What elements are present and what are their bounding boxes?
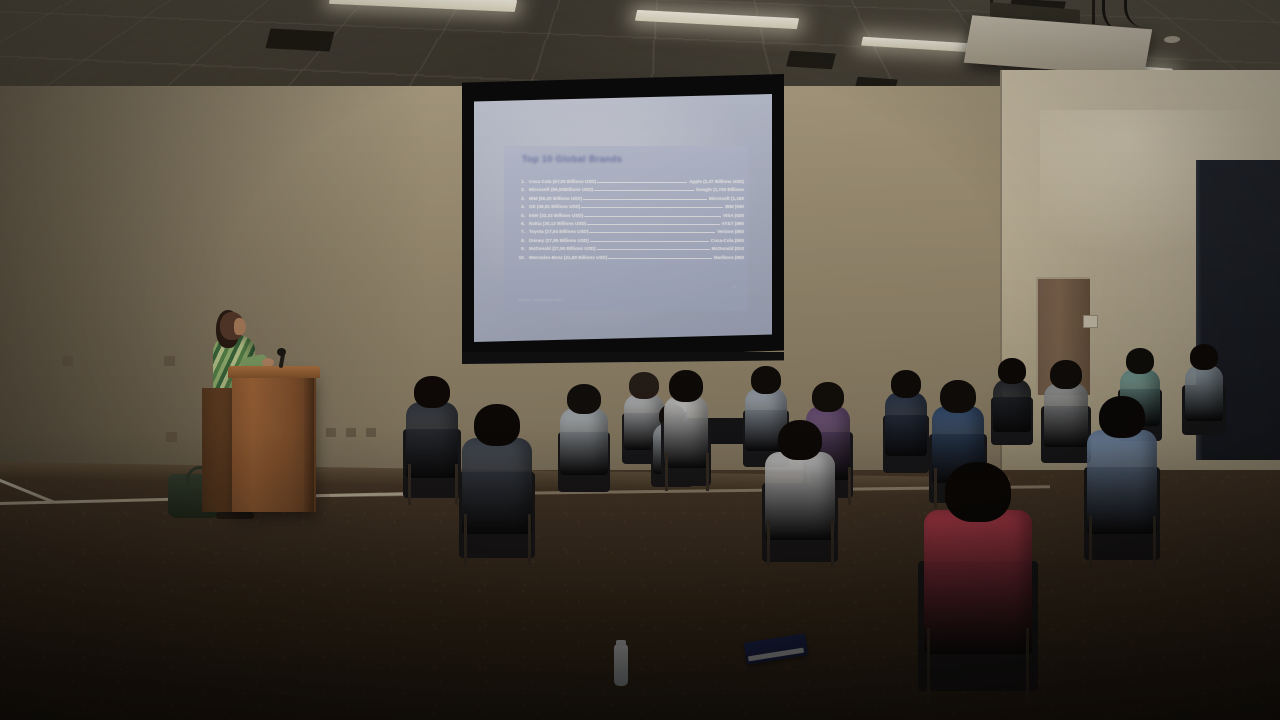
podium-top: [228, 366, 320, 378]
slide-row-left: Mercedes-Benz (21,80 Billions USD): [529, 254, 607, 262]
slide-row: 8. Disney (27,85 Billions USD) Coca-Cola…: [512, 237, 744, 245]
slide-row-connector: [597, 178, 687, 183]
audience-member-head: [1190, 344, 1218, 370]
slide-row-number: 3.: [512, 195, 529, 203]
presenter-face: [234, 318, 246, 335]
slide-row-connector: [594, 186, 694, 191]
slide-row-number: 5.: [512, 212, 529, 220]
audience-member-head: [1126, 348, 1154, 374]
slide-row-right: Coca-Cola (840: [710, 237, 744, 245]
chair-leg: [528, 514, 531, 564]
chair-leg: [408, 464, 411, 504]
slide-row-left: Intel (32,32 Billions USD): [529, 212, 583, 220]
chair-leg: [927, 628, 930, 704]
audience-member-torso: [462, 438, 531, 534]
audience-member-head: [567, 384, 601, 414]
audience-member-torso: [560, 408, 608, 475]
slide-row-left: McDonald (27,50 Billions USD): [529, 245, 596, 253]
wall-outlet-6: [366, 428, 376, 437]
audience-member-head: [474, 404, 520, 446]
microphone-icon: [277, 348, 286, 356]
slide-row-connector: [581, 203, 723, 208]
slide-row-right: McDonald (810: [711, 245, 744, 253]
projector-mount-rod-2: [1092, 0, 1095, 24]
slide-row-right: AT&T (890: [721, 220, 744, 228]
ceiling-vent-2: [786, 51, 836, 70]
audience-member-torso: [993, 379, 1030, 432]
ceiling-vent-1: [266, 28, 335, 51]
podium-side-panel: [202, 388, 236, 512]
slide-title: Top 10 Global Brands: [522, 154, 722, 168]
audience-member-head: [940, 380, 976, 413]
slide-row-connector: [584, 212, 721, 217]
audience-member-head: [778, 420, 822, 460]
slide-row-connector: [587, 220, 719, 225]
slide-row-left: Toyota (27,94 Billions USD): [529, 228, 588, 236]
water-bottle-cap: [616, 640, 626, 646]
slide-row: 7. Toyota (27,94 Billions USD) Verizon (…: [512, 228, 744, 236]
wall-outlet-4: [326, 428, 336, 437]
audience-member: [752, 420, 848, 530]
chair-leg: [665, 453, 668, 491]
slide-footer: Source: Interbrand 2013: [518, 298, 564, 302]
audience-member: [551, 384, 617, 468]
chair-leg: [831, 521, 834, 567]
audience-member-head: [1050, 360, 1082, 389]
slide-row-number: 6.: [512, 220, 529, 228]
slide-row: 1. Coca Cola (67,00 Billions USD) Apple …: [512, 178, 744, 186]
slide-row: 9. McDonald (27,50 Billions USD) McDonal…: [512, 245, 744, 253]
audience-member-head: [414, 376, 450, 408]
audience-member-torso: [885, 392, 927, 456]
slide-page-number: 12: [732, 285, 736, 289]
audience-member: [1074, 396, 1170, 526]
wall-outlet-2: [164, 356, 175, 366]
slide-row: 5. Intel (32,32 Billions USD) VISA (920: [512, 212, 744, 220]
slide-row-right: Marlboro (800: [713, 254, 744, 262]
wall-switch-plate[interactable]: [1083, 315, 1098, 328]
slide-row-number: 7.: [512, 228, 529, 236]
audience-member: [1177, 344, 1231, 414]
chair-leg: [767, 521, 770, 567]
chair-leg: [1026, 628, 1029, 704]
slide-row-right: Google (1,740 Billions: [695, 186, 744, 194]
chair-leg: [464, 514, 467, 564]
slide-row-connector: [590, 237, 709, 242]
slide-row-connector: [583, 195, 707, 200]
slide-row-connector: [608, 254, 712, 259]
audience-member-torso: [1185, 365, 1224, 421]
audience-member-head: [998, 358, 1026, 384]
audience-member-torso: [924, 510, 1032, 654]
audience-member-head: [945, 462, 1011, 522]
wall-corner-seam: [1000, 70, 1002, 520]
chair-leg: [1089, 516, 1092, 571]
water-bottle-on-floor: [614, 644, 628, 686]
slide-row-right: IBM (940: [724, 203, 744, 211]
audience-member: [449, 404, 545, 524]
slide-row-left: Nokia (30,13 Billions USD): [529, 220, 586, 228]
slide-row-right: Microsoft (1,160: [708, 195, 744, 203]
slide-row-number: 1.: [512, 178, 529, 186]
slide-row-left: Microsoft (56,93Billions USD): [529, 186, 593, 194]
slide-row-connector: [589, 228, 715, 233]
audience-member: [903, 462, 1053, 642]
slide-row-right: Verizon (860: [716, 228, 744, 236]
audience-member-head: [751, 366, 781, 394]
audience-member-torso: [664, 396, 709, 468]
slide-row-left: GE (48,91 Billions USD): [529, 203, 580, 211]
slide-row: 3. IBM (56,20 Billions USD) Microsoft (1…: [512, 195, 744, 203]
slide-row-number: 8.: [512, 237, 529, 245]
slide-row-left: Disney (27,85 Billions USD): [529, 237, 589, 245]
slide-row-right: VISA (920: [722, 212, 744, 220]
slide-row: 2. Microsoft (56,93Billions USD) Google …: [512, 186, 744, 194]
audience-member-head: [812, 382, 844, 412]
slide-row-left: Coca Cola (67,00 Billions USD): [529, 178, 596, 186]
projection-screen: Top 10 Global Brands 1. Coca Cola (67,00…: [474, 94, 772, 342]
slide-row: 6. Nokia (30,13 Billions USD) AT&T (890: [512, 220, 744, 228]
audience-member-head: [891, 370, 921, 398]
slide-row-number: 9.: [512, 245, 529, 253]
presenter-shoe-right: [232, 512, 254, 519]
audience-member: [986, 358, 1038, 424]
wall-outlet-5: [346, 428, 356, 437]
wall-outlet-3: [166, 432, 177, 442]
lecture-hall-photo: Top 10 Global Brands 1. Coca Cola (67,00…: [0, 0, 1280, 720]
projected-slide: Top 10 Global Brands 1. Coca Cola (67,00…: [504, 146, 748, 311]
audience-member-head: [669, 370, 703, 402]
slide-row-number: 2.: [512, 186, 529, 194]
slide-row-number: 10.: [512, 254, 529, 262]
slide-row: 10. Mercedes-Benz (21,80 Billions USD) M…: [512, 254, 744, 262]
slide-row-connector: [597, 245, 710, 250]
slide-row-number: 4.: [512, 203, 529, 211]
chair-leg: [706, 453, 709, 491]
audience-member: [655, 370, 717, 460]
audience-member-torso: [765, 452, 834, 540]
audience-member-head: [1099, 396, 1145, 438]
chair-leg: [1153, 516, 1156, 571]
slide-row: 4. GE (48,91 Billions USD) IBM (940: [512, 203, 744, 211]
slide-row-right: Apple (2,47 Billions USD): [688, 178, 744, 186]
wall-outlet-1: [62, 356, 73, 366]
podium-edge: [304, 372, 314, 512]
slide-row-left: IBM (56,20 Billions USD): [529, 195, 582, 203]
chair-leg: [848, 467, 851, 506]
slide-brand-list: 1. Coca Cola (67,00 Billions USD) Apple …: [512, 178, 744, 262]
audience-member-torso: [1087, 430, 1156, 534]
